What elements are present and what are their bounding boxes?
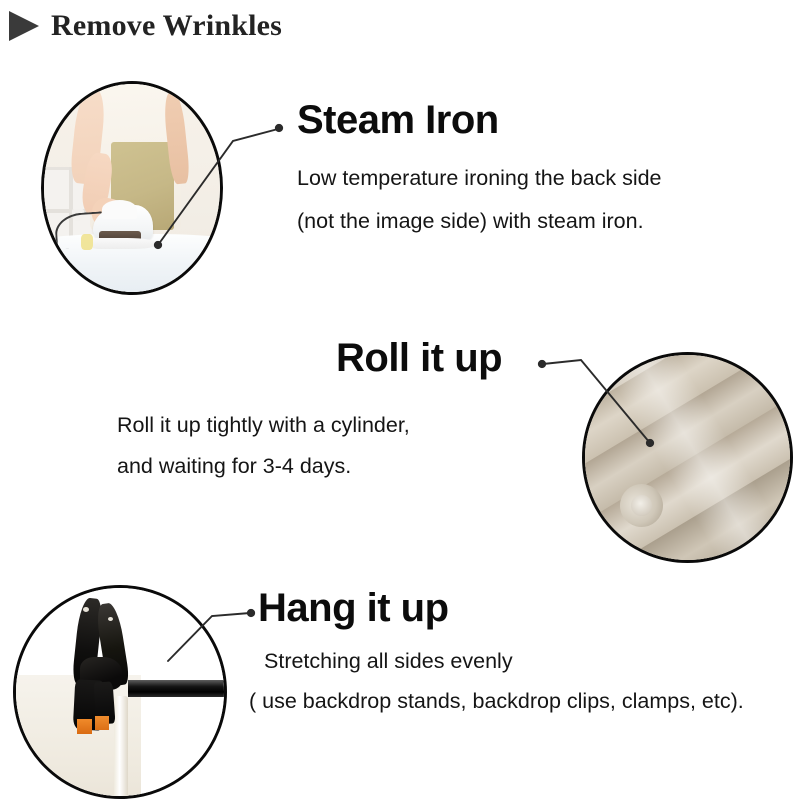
section-line-steam-iron-2: (not the image side) with steam iron. [297,208,644,234]
leader-dot-hang-it-up-target [248,610,254,616]
section-line-hang-it-up-1: Stretching all sides evenly [264,648,513,674]
photo-clamp [13,585,227,799]
clamp-tip-right [95,716,109,731]
clamp-glare [108,617,113,621]
section-line-steam-iron-1: Low temperature ironing the back side [297,165,662,191]
clamp-glare [83,607,89,612]
page-title: Remove Wrinkles [51,9,282,43]
leader-dot-steam-iron-target [276,125,282,131]
photo-rolled-material [582,352,793,563]
roll-core [631,495,652,516]
section-title-hang-it-up: Hang it up [258,586,449,630]
backdrop-stand-pole [114,696,129,799]
section-title-roll-it-up: Roll it up [336,336,502,380]
clamp-tip-left [77,719,92,734]
steam-iron-handle [102,200,137,219]
leader-dot-roll-it-up-target [539,361,545,367]
section-title-steam-iron: Steam Iron [297,98,499,142]
section-line-roll-it-up-1: Roll it up tightly with a cylinder, [117,412,410,438]
right-triangle-icon [9,11,39,41]
photo-steam-iron [41,81,223,295]
clamp-scene [16,588,224,796]
rolled-material-scene [585,355,790,560]
infographic-page: Remove Wrinkles Steam Iron [0,0,800,800]
page-header: Remove Wrinkles [0,0,800,52]
steam-iron-base [93,238,158,249]
steam-iron-scene [44,84,220,292]
section-line-hang-it-up-2: ( use backdrop stands, backdrop clips, c… [249,688,744,714]
section-line-roll-it-up-2: and waiting for 3-4 days. [117,453,351,479]
